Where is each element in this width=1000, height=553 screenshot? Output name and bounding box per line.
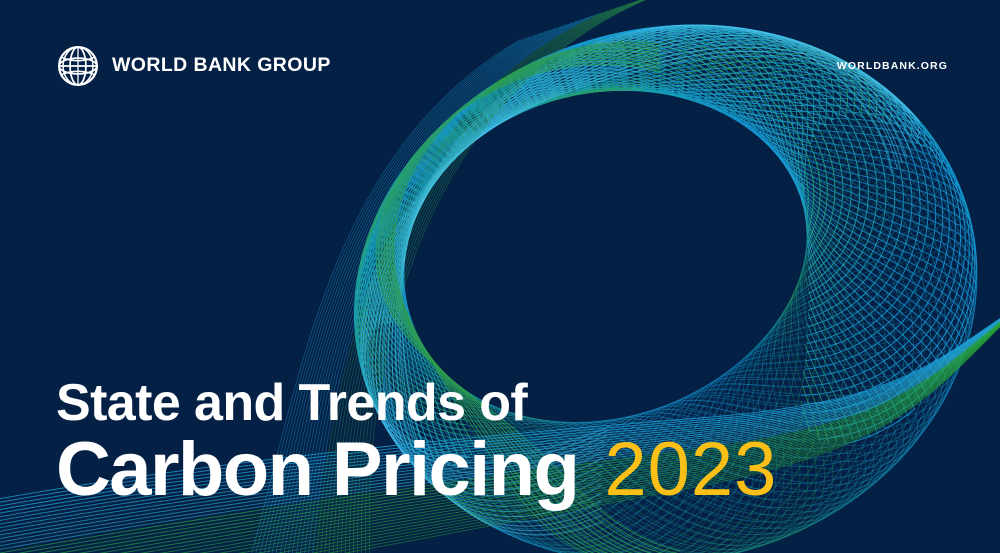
title-line-one: State and Trends of [56,377,916,429]
title-main-text: Carbon Pricing [56,431,578,509]
worldbank-url-label[interactable]: WORLDBANK.ORG [837,60,948,72]
logo-wordmark: WORLD BANK GROUP [112,56,331,76]
cover-title-block: State and Trends of Carbon Pricing 2023 [56,377,916,509]
world-bank-globe-icon [56,44,100,88]
cover-header: WORLD BANK GROUP WORLDBANK.ORG [0,0,1000,120]
report-cover: WORLD BANK GROUP WORLDBANK.ORG State and… [0,0,1000,553]
title-line-two: Carbon Pricing 2023 [56,431,916,509]
world-bank-group-logo[interactable]: WORLD BANK GROUP [56,44,331,88]
title-year: 2023 [604,431,777,509]
